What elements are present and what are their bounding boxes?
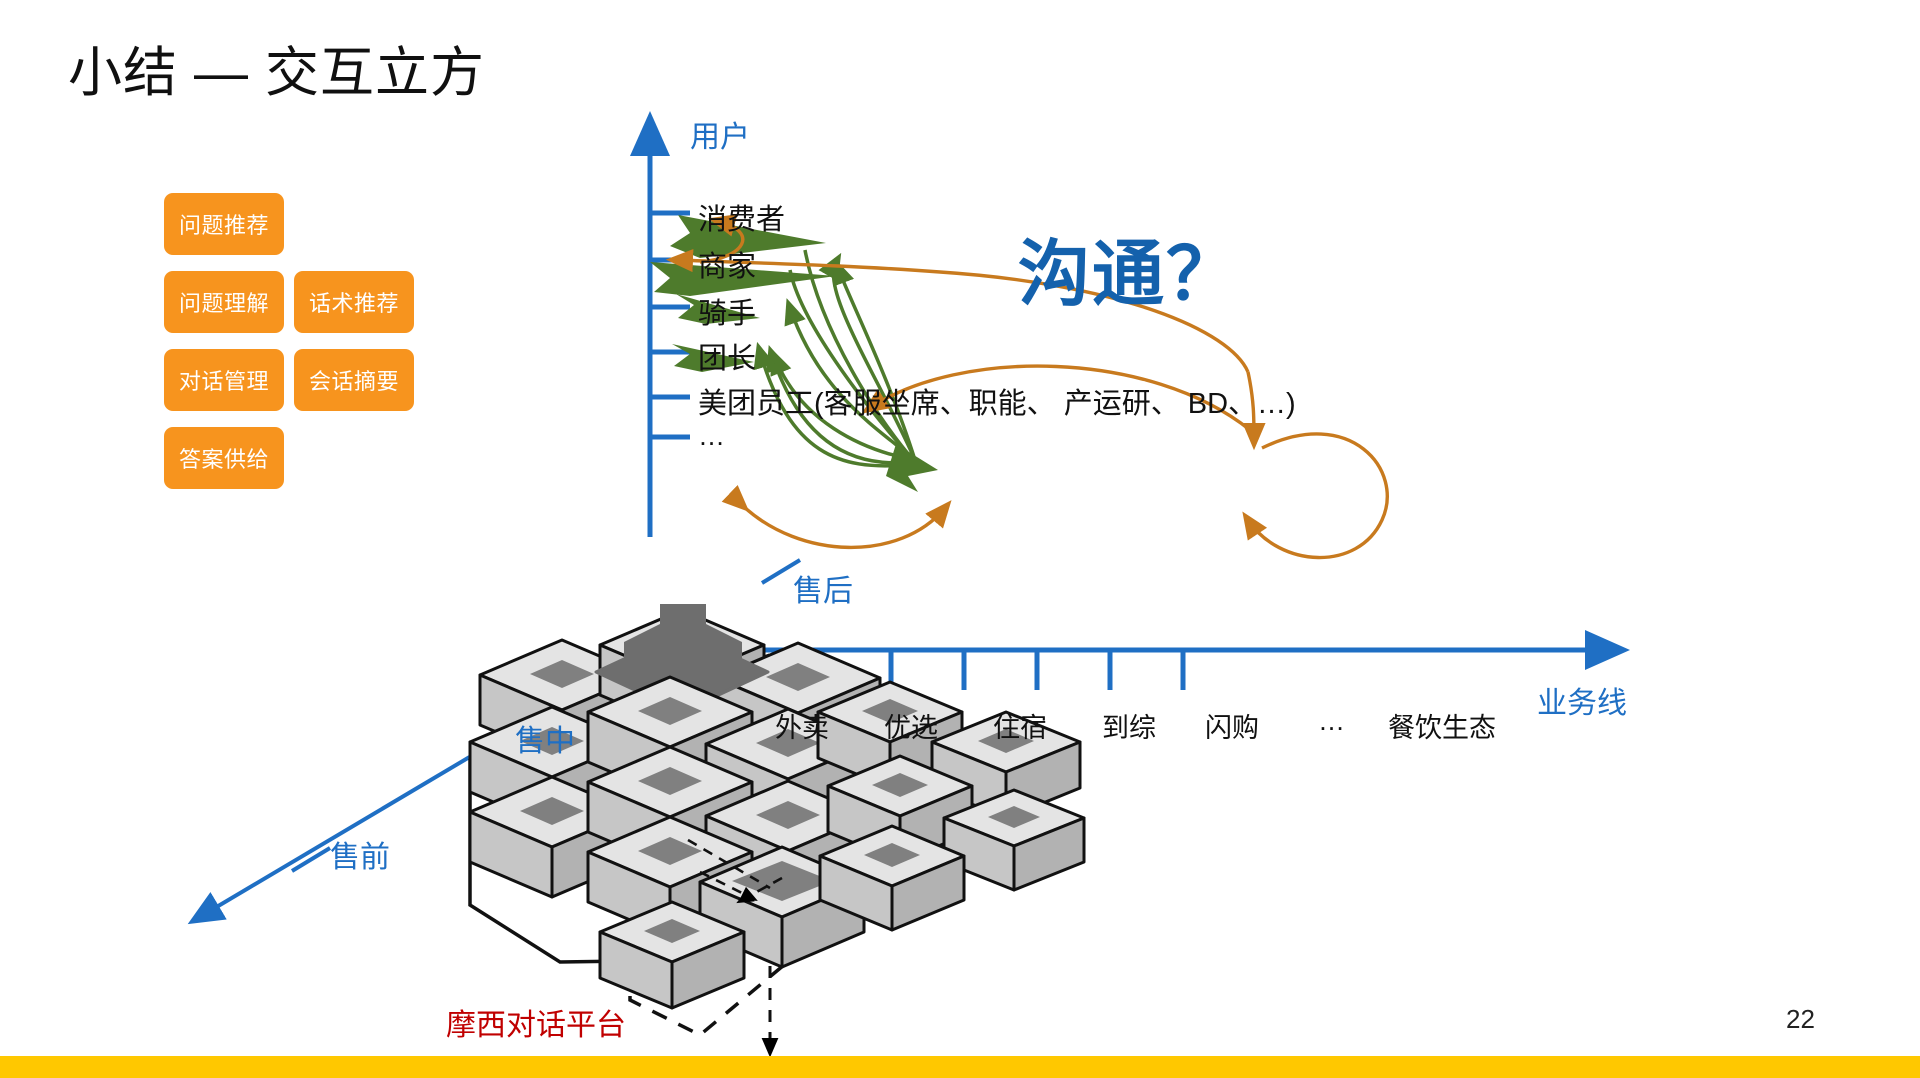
- x-axis-label: 业务线: [1537, 678, 1627, 722]
- green-arrowheads: [650, 215, 938, 492]
- x-tick-shangou: 闪购: [1205, 706, 1259, 745]
- capability-chip-session-summary[interactable]: 会话摘要: [294, 349, 414, 411]
- interaction-cube-diagram: [0, 0, 1920, 1078]
- page-number: 22: [1786, 1004, 1815, 1035]
- y-tick-ellipsis: …: [698, 421, 727, 452]
- z-tick-pre-sales: 售前: [330, 832, 390, 876]
- y-tick-merchant: 商家: [698, 243, 756, 285]
- y-tick-group-leader: 团长: [698, 335, 756, 377]
- green-flow-arrows: [760, 262, 915, 466]
- cube-inner-connectors: [688, 840, 782, 900]
- x-tick-waimai: 外卖: [775, 706, 829, 745]
- x-tick-daozong: 到综: [1102, 706, 1156, 745]
- slide-canvas: 小结 — 交互立方 问题推荐 问题理解 对话管理 答案供给 话术推荐 会话摘要: [0, 0, 1920, 1078]
- x-tick-canyin-shengtai: 餐饮生态: [1388, 706, 1496, 745]
- capability-chip-question-recommend[interactable]: 问题推荐: [164, 193, 284, 255]
- platform-label: 摩西对话平台: [446, 1000, 626, 1044]
- communication-question-annotation: 沟通？: [1018, 215, 1240, 320]
- cube-row-lower: [470, 747, 1084, 901]
- interaction-cube-stack: [470, 604, 1084, 1008]
- z-tick-after-sales: 售后: [793, 566, 853, 610]
- x-tick-zhusu: 住宿: [993, 706, 1047, 745]
- green-flow-fan: [790, 250, 915, 462]
- z-tick-during-sales: 售中: [515, 716, 575, 760]
- y-tick-rider: 骑手: [698, 290, 756, 332]
- capability-chip-answer-supply[interactable]: 答案供给: [164, 427, 284, 489]
- axis-y: [650, 126, 690, 537]
- y-tick-meituan-employee: 美团员工(客服坐席、职能、 产运研、 BD、…): [698, 380, 1296, 422]
- axis-z: [198, 560, 800, 918]
- footer-bar: [0, 1056, 1920, 1078]
- page-title: 小结 — 交互立方: [68, 42, 485, 104]
- x-tick-ellipsis: …: [1318, 706, 1345, 737]
- capability-chip-dialog-management[interactable]: 对话管理: [164, 349, 284, 411]
- platform-boundary-dashed: [630, 655, 905, 1035]
- y-tick-consumer: 消费者: [698, 196, 785, 238]
- y-axis-label: 用户: [690, 112, 750, 156]
- x-tick-youxuan: 优选: [884, 706, 938, 745]
- cube-hub: [596, 604, 768, 718]
- capability-chip-script-recommend[interactable]: 话术推荐: [294, 271, 414, 333]
- axis-x: [650, 650, 1615, 690]
- capability-chip-question-understand[interactable]: 问题理解: [164, 271, 284, 333]
- cube-row-front: [588, 817, 964, 1008]
